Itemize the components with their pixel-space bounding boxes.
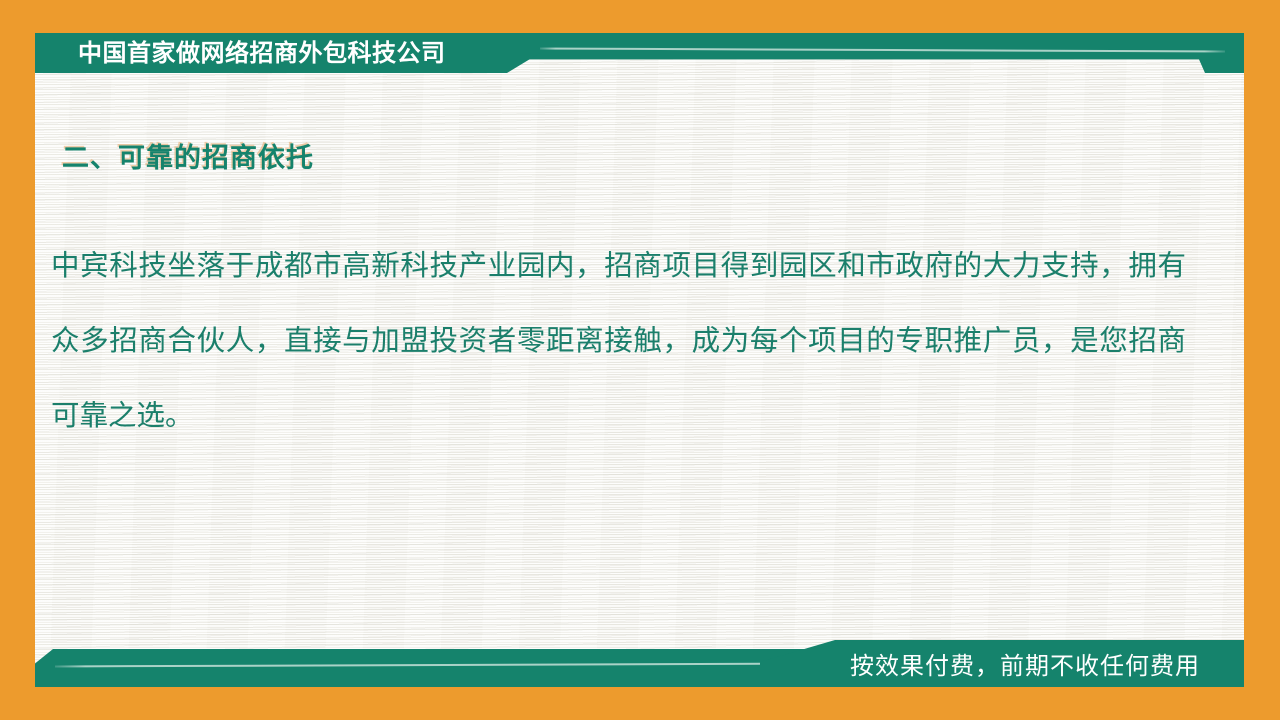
body-paragraph: 中宾科技坐落于成都市高新科技产业园内，招商项目得到园区和市政府的大力支持，拥有众… [51, 228, 1186, 453]
presentation-slide: 中国首家做网络招商外包科技公司 二、可靠的招商依托 中宾科技坐落于成都市高新科技… [0, 0, 1280, 720]
footer-band: 按效果付费，前期不收任何费用 [35, 640, 1244, 687]
header-title-text: 中国首家做网络招商外包科技公司 [78, 33, 446, 73]
body-paragraph-container: 中宾科技坐落于成都市高新科技产业园内，招商项目得到园区和市政府的大力支持，拥有众… [51, 228, 1186, 453]
header-band: 中国首家做网络招商外包科技公司 [35, 33, 1244, 73]
section-heading: 二、可靠的招商依托 [62, 136, 314, 175]
footer-slogan-text: 按效果付费，前期不收任何费用 [850, 640, 1200, 687]
